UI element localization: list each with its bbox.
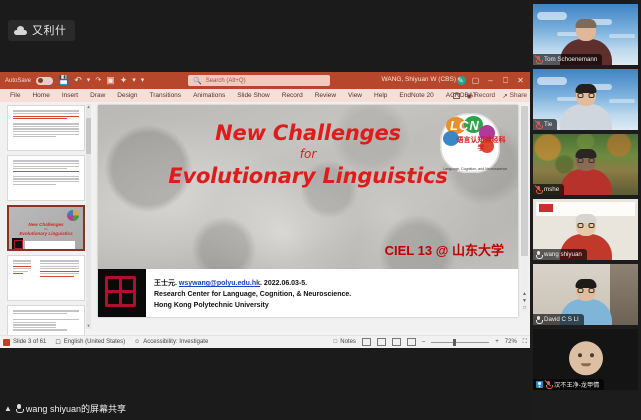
accessibility-status[interactable]: ☺ Accessibility: Investigate bbox=[134, 339, 208, 345]
lcn-letters: LCN bbox=[450, 118, 480, 133]
slide-author-block: 王士元. wsywang@polyu.edu.hk. 2022.06.03-5.… bbox=[154, 278, 351, 311]
autosave-toggle[interactable] bbox=[36, 77, 53, 85]
person-icon: ☺ bbox=[134, 339, 140, 345]
mic-muted-icon bbox=[536, 121, 541, 128]
zoom-slider[interactable] bbox=[431, 342, 489, 343]
mic-icon bbox=[536, 316, 541, 323]
tab-file[interactable]: File bbox=[4, 92, 26, 99]
host-icon bbox=[536, 381, 543, 388]
slide-conference-label: CIEL 13 @ 山东大学 bbox=[385, 240, 504, 259]
zoom-out-button[interactable]: – bbox=[422, 339, 425, 345]
search-placeholder: Search (Alt+Q) bbox=[206, 78, 246, 84]
zoom-share-bar: ▲ wang shiyuan的屏幕共享 bbox=[0, 396, 530, 420]
fit-slide-icon[interactable]: □ bbox=[521, 305, 528, 312]
close-button[interactable]: ✕ bbox=[513, 72, 528, 89]
glasses-icon bbox=[577, 158, 594, 163]
zoom-top-area: 又利什 bbox=[0, 0, 530, 72]
polyu-knot-logo bbox=[98, 269, 146, 317]
lcn-chinese-label: 语言认知神经科学 bbox=[454, 137, 508, 153]
search-input[interactable]: 🔍 Search (Alt+Q) bbox=[188, 75, 330, 86]
participant-tile-tie[interactable]: Tie bbox=[533, 69, 638, 130]
tab-insert[interactable]: Insert bbox=[56, 92, 84, 99]
participant-video bbox=[560, 149, 612, 195]
knot-logo-icon bbox=[12, 238, 23, 249]
slide-title-line2: Evolutionary Linguistics bbox=[98, 164, 518, 188]
participant-name: David C S LI bbox=[544, 316, 579, 323]
ppt-status-bar: Slide 3 of 61 ☐ English (United States) … bbox=[0, 335, 530, 348]
slide-sorter-icon[interactable] bbox=[377, 338, 386, 346]
participant-name: wang shiyuan bbox=[544, 251, 582, 258]
thumbnail-title-2: Evolutionary Linguistics bbox=[19, 231, 72, 236]
undo-icon[interactable]: ↶ bbox=[74, 76, 82, 85]
slide-counter: Slide 3 of 61 bbox=[3, 339, 46, 346]
language-status[interactable]: ☐ English (United States) bbox=[55, 339, 125, 346]
scroll-down-icon[interactable]: ▼ bbox=[86, 323, 91, 329]
ppt-title-bar: AutoSave 💾 ↶ ▾ ↷ ▣ ✦ ▾ ▾ ciel 1 ▾ 🔍 Sear… bbox=[0, 72, 530, 89]
scrollbar-thumb[interactable] bbox=[521, 106, 528, 256]
glasses-icon bbox=[577, 93, 594, 98]
scroll-up-icon[interactable]: ▲ bbox=[521, 291, 528, 298]
tab-transitions[interactable]: Transitions bbox=[144, 92, 188, 99]
tab-slide-show[interactable]: Slide Show bbox=[231, 92, 276, 99]
share-icon: ↗ bbox=[502, 92, 507, 100]
share-status-label: wang shiyuan的屏幕共享 bbox=[26, 402, 126, 415]
zoom-control-label: 又利什 bbox=[32, 22, 67, 38]
redo-icon[interactable]: ↷ bbox=[95, 77, 101, 84]
author-name: 王士元. bbox=[154, 280, 177, 287]
notes-button[interactable]: □ Notes bbox=[334, 339, 356, 345]
participant-video bbox=[560, 84, 612, 130]
tab-draw[interactable]: Draw bbox=[84, 92, 111, 99]
slide-editing-area: LCN 语言认知神经科学 Language, Cognition, and Ne… bbox=[92, 102, 530, 331]
author-email-link[interactable]: wsywang@polyu.edu.hk bbox=[179, 280, 260, 287]
ribbon-pen-icon[interactable]: ✎ bbox=[453, 72, 468, 89]
mic-muted-icon bbox=[536, 56, 541, 63]
participant-tile-host[interactable]: 汉不王净-龙甲情 bbox=[533, 329, 638, 390]
status-record-icon[interactable] bbox=[3, 339, 10, 346]
tab-view[interactable]: View bbox=[342, 92, 368, 99]
scroll-down-icon[interactable]: ▼ bbox=[521, 298, 528, 305]
participant-name: mshe bbox=[544, 186, 559, 193]
restore-button[interactable]: ⎕ bbox=[498, 72, 513, 89]
fit-to-window-icon[interactable]: ⛶ bbox=[523, 339, 527, 346]
thumbnail-slide-1[interactable]: 1 bbox=[7, 105, 85, 151]
share-label: Share bbox=[510, 92, 527, 99]
mic-muted-icon bbox=[546, 381, 551, 388]
autosave-label: AutoSave bbox=[5, 78, 31, 84]
tab-record[interactable]: Record bbox=[276, 92, 309, 99]
mic-icon bbox=[536, 251, 541, 258]
zoom-level-label: 72% bbox=[505, 339, 517, 345]
scroll-up-icon[interactable]: ▲ bbox=[86, 104, 91, 110]
participant-name-badge: David C S LI bbox=[533, 314, 584, 325]
thumbnail-slide-4[interactable]: 4 bbox=[7, 255, 85, 301]
tab-endnote[interactable]: EndNote 20 bbox=[393, 92, 439, 99]
record-label: Record bbox=[474, 92, 495, 99]
notes-icon: □ bbox=[334, 339, 338, 345]
zoom-in-button[interactable]: + bbox=[495, 339, 499, 345]
minimize-button[interactable]: – bbox=[483, 72, 498, 89]
participant-tile-tom-schoenemann[interactable]: Tom Schoenemann bbox=[533, 4, 638, 65]
participant-name: Tie bbox=[544, 121, 552, 128]
share-button[interactable]: ↗ Share bbox=[502, 92, 527, 100]
lcn-logo-icon bbox=[67, 210, 79, 221]
animation-icon[interactable]: ✦ bbox=[120, 76, 128, 85]
affiliation-line-1: Research Center for Language, Cognition,… bbox=[154, 289, 351, 300]
caret-up-icon[interactable]: ▲ bbox=[4, 404, 12, 413]
tab-animations[interactable]: Animations bbox=[187, 92, 231, 99]
present-icon[interactable]: ▣ bbox=[106, 76, 115, 85]
ribbon-display-options-icon[interactable]: ▢ bbox=[468, 72, 483, 89]
scrollbar-thumb[interactable] bbox=[86, 118, 91, 154]
window-controls: ✎ ▢ – ⎕ ✕ bbox=[453, 72, 528, 89]
tab-help[interactable]: Help bbox=[368, 92, 393, 99]
participant-tile-mshe[interactable]: mshe bbox=[533, 134, 638, 195]
slide-scrollbar[interactable]: ▲ ▼ □ bbox=[521, 106, 528, 312]
animation-dropdown-icon[interactable]: ▾ bbox=[132, 77, 136, 84]
screen-root: 又利什 AutoSave 💾 ↶ ▾ ↷ ▣ ✦ ▾ ▾ ciel 1 ▾ 🔍 … bbox=[0, 0, 641, 420]
participant-tile-david-c-s-li[interactable]: David C S LI bbox=[533, 264, 638, 325]
participant-name: 汉不王净-龙甲情 bbox=[554, 380, 599, 389]
participant-name-badge: Tie bbox=[533, 119, 557, 130]
record-icon: ◉ bbox=[467, 92, 473, 100]
thumbnail-scrollbar[interactable]: ▲ ▼ bbox=[86, 104, 91, 329]
status-right-controls: □ Notes – + 72% ⛶ bbox=[334, 338, 527, 346]
slide-thumbnail-pane[interactable]: 1 2 bbox=[0, 102, 92, 331]
zoom-dark-backdrop bbox=[0, 348, 530, 396]
participant-name: Tom Schoenemann bbox=[544, 56, 597, 63]
record-button[interactable]: ◉ Record bbox=[467, 92, 496, 100]
quick-access-toolbar: AutoSave 💾 ↶ ▾ ↷ ▣ ✦ ▾ ▾ bbox=[3, 76, 144, 85]
save-icon[interactable]: 💾 bbox=[58, 76, 69, 85]
ribbon-right-actions: ◉ Record ↗ Share bbox=[453, 92, 527, 100]
cloud-icon bbox=[14, 26, 27, 35]
undo-dropdown-icon[interactable]: ▾ bbox=[87, 77, 91, 84]
more-commands-icon[interactable]: ▾ bbox=[141, 77, 145, 84]
thumbnail-preview: New Challenges for Evolutionary Linguist… bbox=[9, 207, 83, 251]
slideshow-icon[interactable] bbox=[407, 338, 416, 346]
tab-home[interactable]: Home bbox=[26, 92, 55, 99]
comments-icon[interactable] bbox=[453, 93, 460, 99]
current-slide[interactable]: LCN 语言认知神经科学 Language, Cognition, and Ne… bbox=[98, 105, 518, 317]
account-name-label[interactable]: WANG, Shiyuan W (CBS) bbox=[381, 76, 456, 83]
search-icon: 🔍 bbox=[193, 77, 202, 85]
normal-view-icon[interactable] bbox=[362, 338, 371, 346]
reading-view-icon[interactable] bbox=[392, 338, 401, 346]
participant-tile-wang-shiyuan[interactable]: wang shiyuan bbox=[533, 199, 638, 260]
ribbon-tabs: File Home Insert Draw Design Transitions… bbox=[0, 89, 530, 102]
glasses-icon bbox=[577, 223, 594, 228]
thumbnail-slide-2[interactable]: 2 bbox=[7, 155, 85, 201]
participant-name-badge: Tom Schoenemann bbox=[533, 54, 602, 65]
glasses-icon bbox=[577, 288, 594, 293]
participant-name-badge: 汉不王净-龙甲情 bbox=[533, 379, 604, 390]
tab-review[interactable]: Review bbox=[309, 92, 342, 99]
knot-shape bbox=[105, 276, 139, 310]
avatar bbox=[569, 341, 603, 375]
thumbnail-footer bbox=[25, 241, 75, 250]
zoom-participant-strip: Tom Schoenemann Tie bbox=[530, 0, 641, 420]
mic-muted-icon bbox=[536, 186, 541, 193]
participant-name-badge: mshe bbox=[533, 184, 564, 195]
powerpoint-window: AutoSave 💾 ↶ ▾ ↷ ▣ ✦ ▾ ▾ ciel 1 ▾ 🔍 Sear… bbox=[0, 72, 530, 348]
zoom-slider-handle[interactable] bbox=[453, 339, 456, 346]
accessibility-icon: ☐ bbox=[55, 339, 60, 346]
tab-design[interactable]: Design bbox=[111, 92, 143, 99]
ppt-body: 1 2 bbox=[0, 102, 530, 331]
affiliation-line-2: Hong Kong Polytechnic University bbox=[154, 300, 351, 311]
author-date: . 2022.06.03-5. bbox=[260, 280, 307, 287]
participant-name-badge: wang shiyuan bbox=[533, 249, 587, 260]
thumbnail-slide-3[interactable]: 3 New Challenges for Evolutionary Lingui… bbox=[7, 205, 85, 251]
microphone-icon[interactable] bbox=[16, 404, 22, 413]
zoom-floating-control[interactable]: 又利什 bbox=[8, 20, 75, 41]
